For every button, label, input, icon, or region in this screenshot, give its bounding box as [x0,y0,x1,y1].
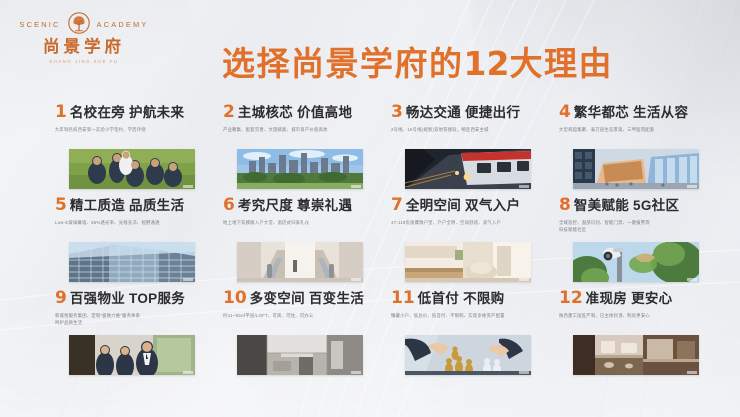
reason-description: 全域监控、面部识别、智能门禁、一键报警等 科技赋能社区 [559,219,711,233]
reason-thumbnail[interactable] [237,149,363,189]
reason-index: 6 [223,197,235,214]
image-watermark [351,185,361,188]
reason-index: 4 [559,104,571,121]
tree-icon [67,12,91,36]
reason-description: 九年制名校西安第一实验小学签约、学后环绕 [55,126,207,133]
reason-card[interactable]: 5 精工质造品质生活 Low-E玻璃幕墙、85%透光率、光线充沛、视野通透 [55,197,212,282]
reason-description: 陕西建工国匠严制、已主体封顶、购房更安心 [559,312,711,319]
reason-card[interactable]: 6 考究尺度尊崇礼遇 地上地下双模级入户大堂、酒店式归家礼仪 [223,197,380,282]
reason-heading: 8 智美赋能5G社区 [559,197,716,214]
reason-thumbnail[interactable] [237,335,363,375]
page-title-suffix: 大理由 [509,44,613,83]
reason-title: 畅达交通便捷出行 [406,106,520,120]
reason-thumbnail[interactable] [573,335,699,375]
image-watermark [183,185,193,188]
reason-card[interactable]: 2 主城核芯价值高地 产业聚集、配套完善、文旅赋能、城市资产价值高地 [223,104,380,189]
reason-heading: 11 低首付不限购 [391,290,548,307]
reason-index: 7 [391,197,403,214]
image-watermark [183,278,193,281]
reason-title: 百强物业TOP服务 [70,292,185,306]
image-watermark [687,371,697,374]
reason-heading: 10 多变空间百变生活 [223,290,380,307]
brand-en-left: SCENIC [19,20,60,29]
reason-index: 1 [55,104,67,121]
reason-description: 地上地下双模级入户大堂、酒店式归家礼仪 [223,219,375,226]
poster-canvas: SCENIC ACADEMY 尚景学府 SHANG JING XUE FU 选择… [0,0,740,417]
reason-thumbnail[interactable] [405,149,531,189]
reason-title: 繁华都芯生活从容 [574,106,688,120]
reason-index: 8 [559,197,571,214]
reason-title: 准现房更安心 [586,292,673,306]
page-title-number: 12 [464,44,510,83]
reason-index: 2 [223,104,235,121]
reason-index: 10 [223,290,247,307]
reason-title: 全明空间双气入户 [406,199,520,213]
reason-card[interactable]: 1 名校在旁护航未来 九年制名校西安第一实验小学签约、学后环绕 [55,104,212,189]
reason-description: 约41~93㎡平层/LOFT、可商、可住、可办公 [223,312,375,319]
reason-heading: 4 繁华都芯生活从容 [559,104,716,121]
reason-title: 考究尺度尊崇礼遇 [238,199,352,213]
reason-grid: 1 名校在旁护航未来 九年制名校西安第一实验小学签约、学后环绕 [55,104,715,375]
image-watermark [687,185,697,188]
reason-title: 主城核芯价值高地 [238,106,352,120]
page-title: 选择尚景学府的12大理由 [0,47,740,80]
reason-heading: 12 准现房更安心 [559,290,716,307]
reason-card[interactable]: 3 畅达交通便捷出行 2号线、16号线(规划)双地铁接驳，畅连西安主城 [391,104,548,189]
image-watermark [351,371,361,374]
reason-thumbnail[interactable] [69,149,195,189]
reason-thumbnail[interactable] [573,149,699,189]
reason-description: 47-118优质爆款户型、户户全明、空间舒适、双气入户 [391,219,543,226]
reason-heading: 6 考究尺度尊崇礼遇 [223,197,380,214]
reason-thumbnail[interactable] [405,335,531,375]
reason-title: 智美赋能5G社区 [574,199,679,213]
reason-heading: 2 主城核芯价值高地 [223,104,380,121]
reason-thumbnail[interactable] [405,242,531,282]
image-watermark [351,278,361,281]
reason-heading: 3 畅达交通便捷出行 [391,104,548,121]
image-watermark [687,278,697,281]
reason-description: 产业聚集、配套完善、文旅赋能、城市资产价值高地 [223,126,375,133]
reason-heading: 5 精工质造品质生活 [55,197,212,214]
reason-card[interactable]: 4 繁华都芯生活从容 大型商超集聚、泰万园生态景观、三甲医院配套 [559,104,716,189]
page-title-prefix: 选择尚景学府的 [222,44,464,83]
reason-description: Low-E玻璃幕墙、85%透光率、光线充沛、视野通透 [55,219,207,226]
reason-index: 11 [391,290,415,307]
reason-heading: 9 百强物业TOP服务 [55,290,212,307]
reason-title: 多变空间百变生活 [250,292,364,306]
reason-card[interactable]: 9 百强物业TOP服务 新城悦服务集团、定制“极致六维”服务体系 呵护品质生活 [55,290,212,375]
reason-index: 5 [55,197,67,214]
reason-index: 9 [55,290,67,307]
reason-title: 精工质造品质生活 [70,199,184,213]
reason-index: 12 [559,290,583,307]
reason-index: 3 [391,104,403,121]
image-watermark [519,185,529,188]
reason-card[interactable]: 10 多变空间百变生活 约41~93㎡平层/LOFT、可商、可住、可办公 [223,290,380,375]
image-watermark [183,371,193,374]
reason-card[interactable]: 12 准现房更安心 陕西建工国匠严制、已主体封顶、购房更安心 [559,290,716,375]
reason-thumbnail[interactable] [237,242,363,282]
reason-card[interactable]: 11 低首付不限购 臻藏小户、低总价、低首付、不限购、实现多维资产配置 [391,290,548,375]
reason-description: 臻藏小户、低总价、低首付、不限购、实现多维资产配置 [391,312,543,319]
reason-title: 低首付不限购 [418,292,505,306]
brand-logo-row: SCENIC ACADEMY [18,12,150,36]
reason-title: 名校在旁护航未来 [70,106,184,120]
reason-card[interactable]: 7 全明空间双气入户 47-118优质爆款户型、户户全明、空间舒适、双气入户 [391,197,548,282]
reason-thumbnail[interactable] [69,242,195,282]
reason-thumbnail[interactable] [573,242,699,282]
image-watermark [519,371,529,374]
reason-card[interactable]: 8 智美赋能5G社区 全域监控、面部识别、智能门禁、一键报警等 科技赋能社区 [559,197,716,282]
reason-description: 2号线、16号线(规划)双地铁接驳，畅连西安主城 [391,126,543,133]
image-watermark [519,278,529,281]
reason-heading: 1 名校在旁护航未来 [55,104,212,121]
reason-description: 大型商超集聚、泰万园生态景观、三甲医院配套 [559,126,711,133]
reason-thumbnail[interactable] [69,335,195,375]
reason-heading: 7 全明空间双气入户 [391,197,548,214]
reason-description: 新城悦服务集团、定制“极致六维”服务体系 呵护品质生活 [55,312,207,326]
brand-en-right: ACADEMY [97,20,149,29]
